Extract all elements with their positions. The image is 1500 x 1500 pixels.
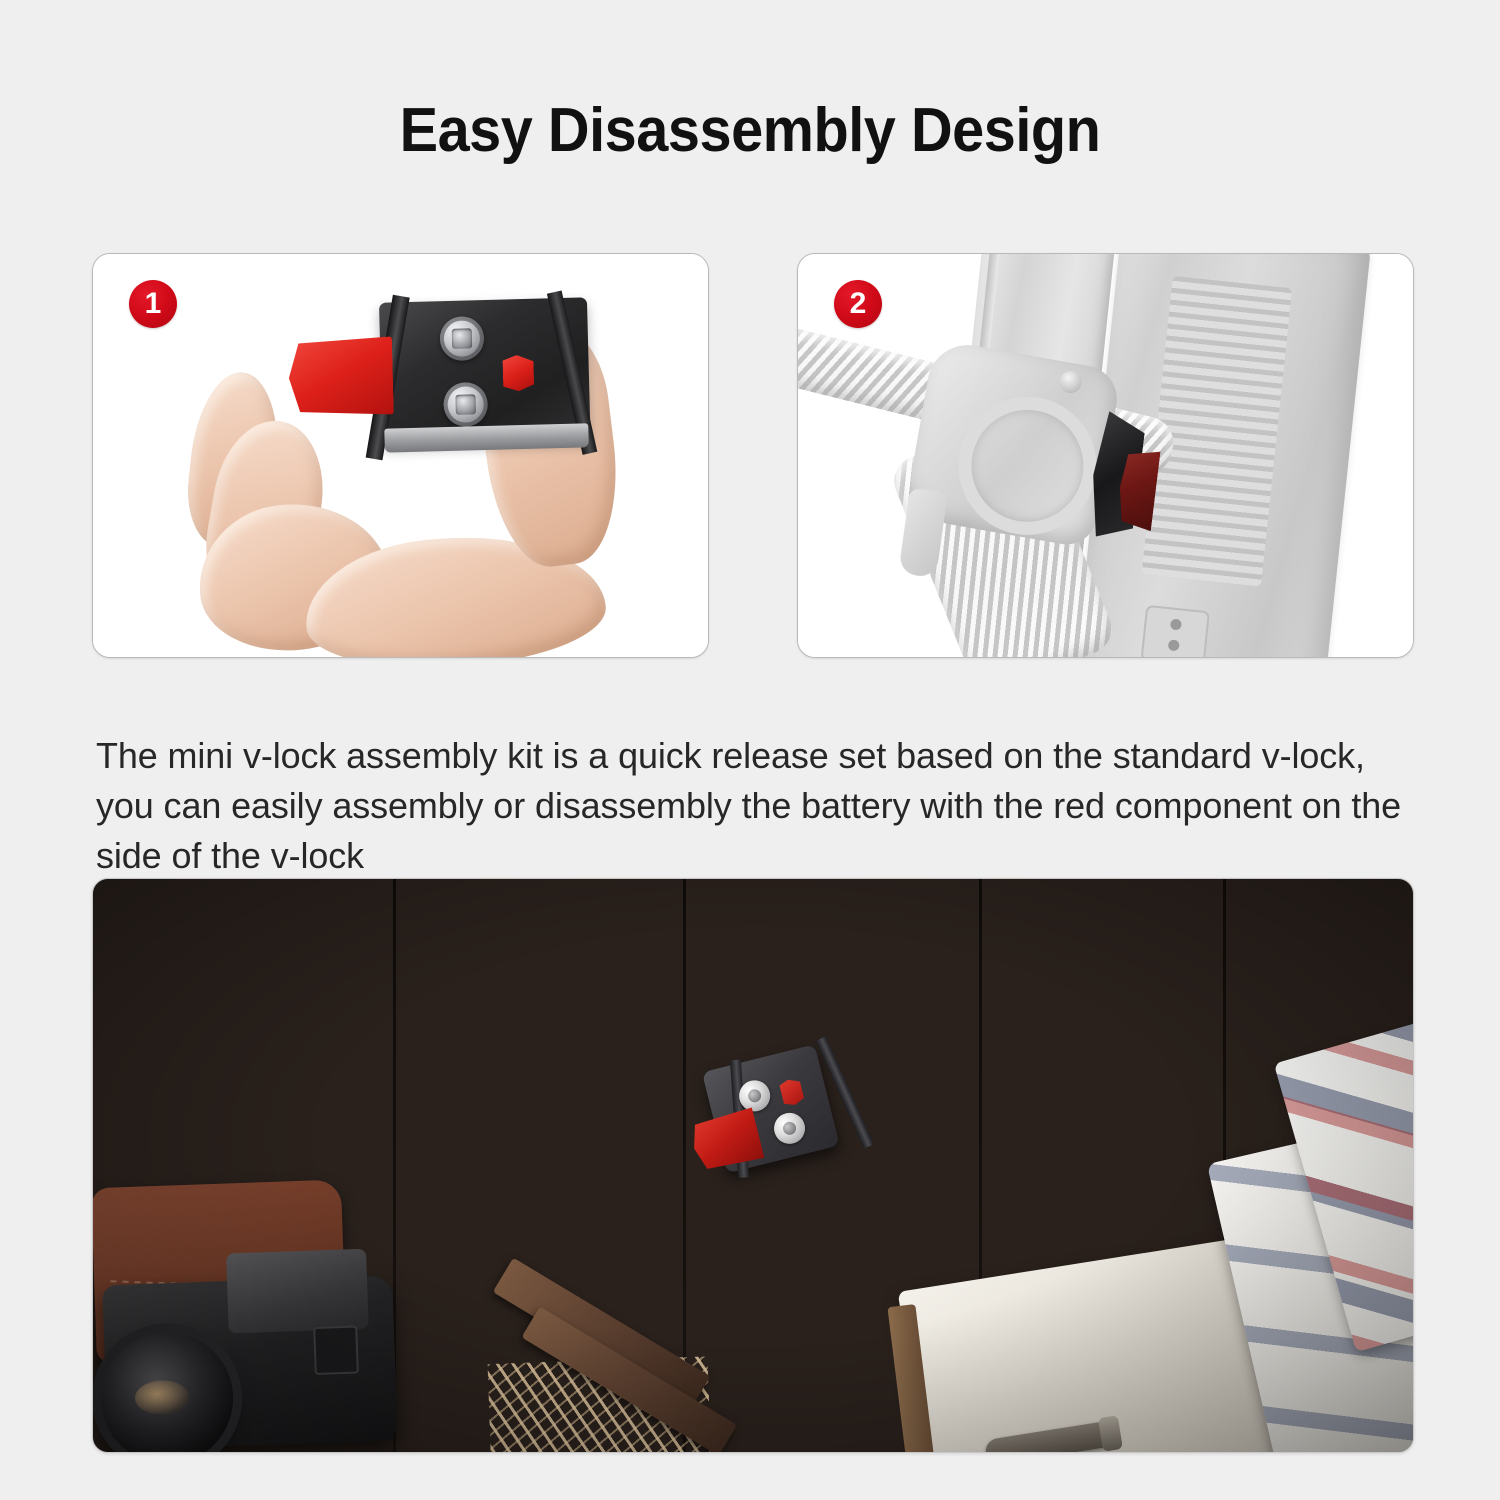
step-badge-1: 1 bbox=[129, 280, 177, 328]
battery-contact bbox=[1140, 605, 1210, 657]
v-lock-plate bbox=[379, 297, 591, 460]
description-text: The mini v-lock assembly kit is a quick … bbox=[96, 731, 1401, 881]
screw-bottom bbox=[443, 382, 488, 427]
hand-illustration bbox=[185, 288, 615, 658]
wooden-crate bbox=[485, 1274, 781, 1453]
step-1-image bbox=[93, 254, 708, 657]
plate-base bbox=[384, 423, 589, 452]
step-panel-1: 1 bbox=[92, 253, 709, 658]
step-panels: 1 bbox=[92, 253, 1414, 658]
lifestyle-photo bbox=[92, 878, 1414, 1453]
screw-top bbox=[439, 316, 484, 361]
book-clasp bbox=[984, 1420, 1116, 1453]
camera-top-plate bbox=[226, 1249, 369, 1334]
plate-body bbox=[379, 297, 591, 444]
step-badge-2: 2 bbox=[834, 280, 882, 328]
red-release-nub bbox=[502, 355, 534, 392]
step-2-image bbox=[798, 254, 1413, 657]
camera-viewfinder bbox=[313, 1326, 359, 1376]
clamp-screw bbox=[1058, 369, 1083, 394]
step-panel-2: 2 bbox=[797, 253, 1414, 658]
vintage-camera bbox=[92, 1186, 449, 1453]
clamp-ring bbox=[947, 386, 1107, 546]
red-release-tab bbox=[288, 336, 394, 417]
page-title: Easy Disassembly Design bbox=[53, 98, 1448, 163]
